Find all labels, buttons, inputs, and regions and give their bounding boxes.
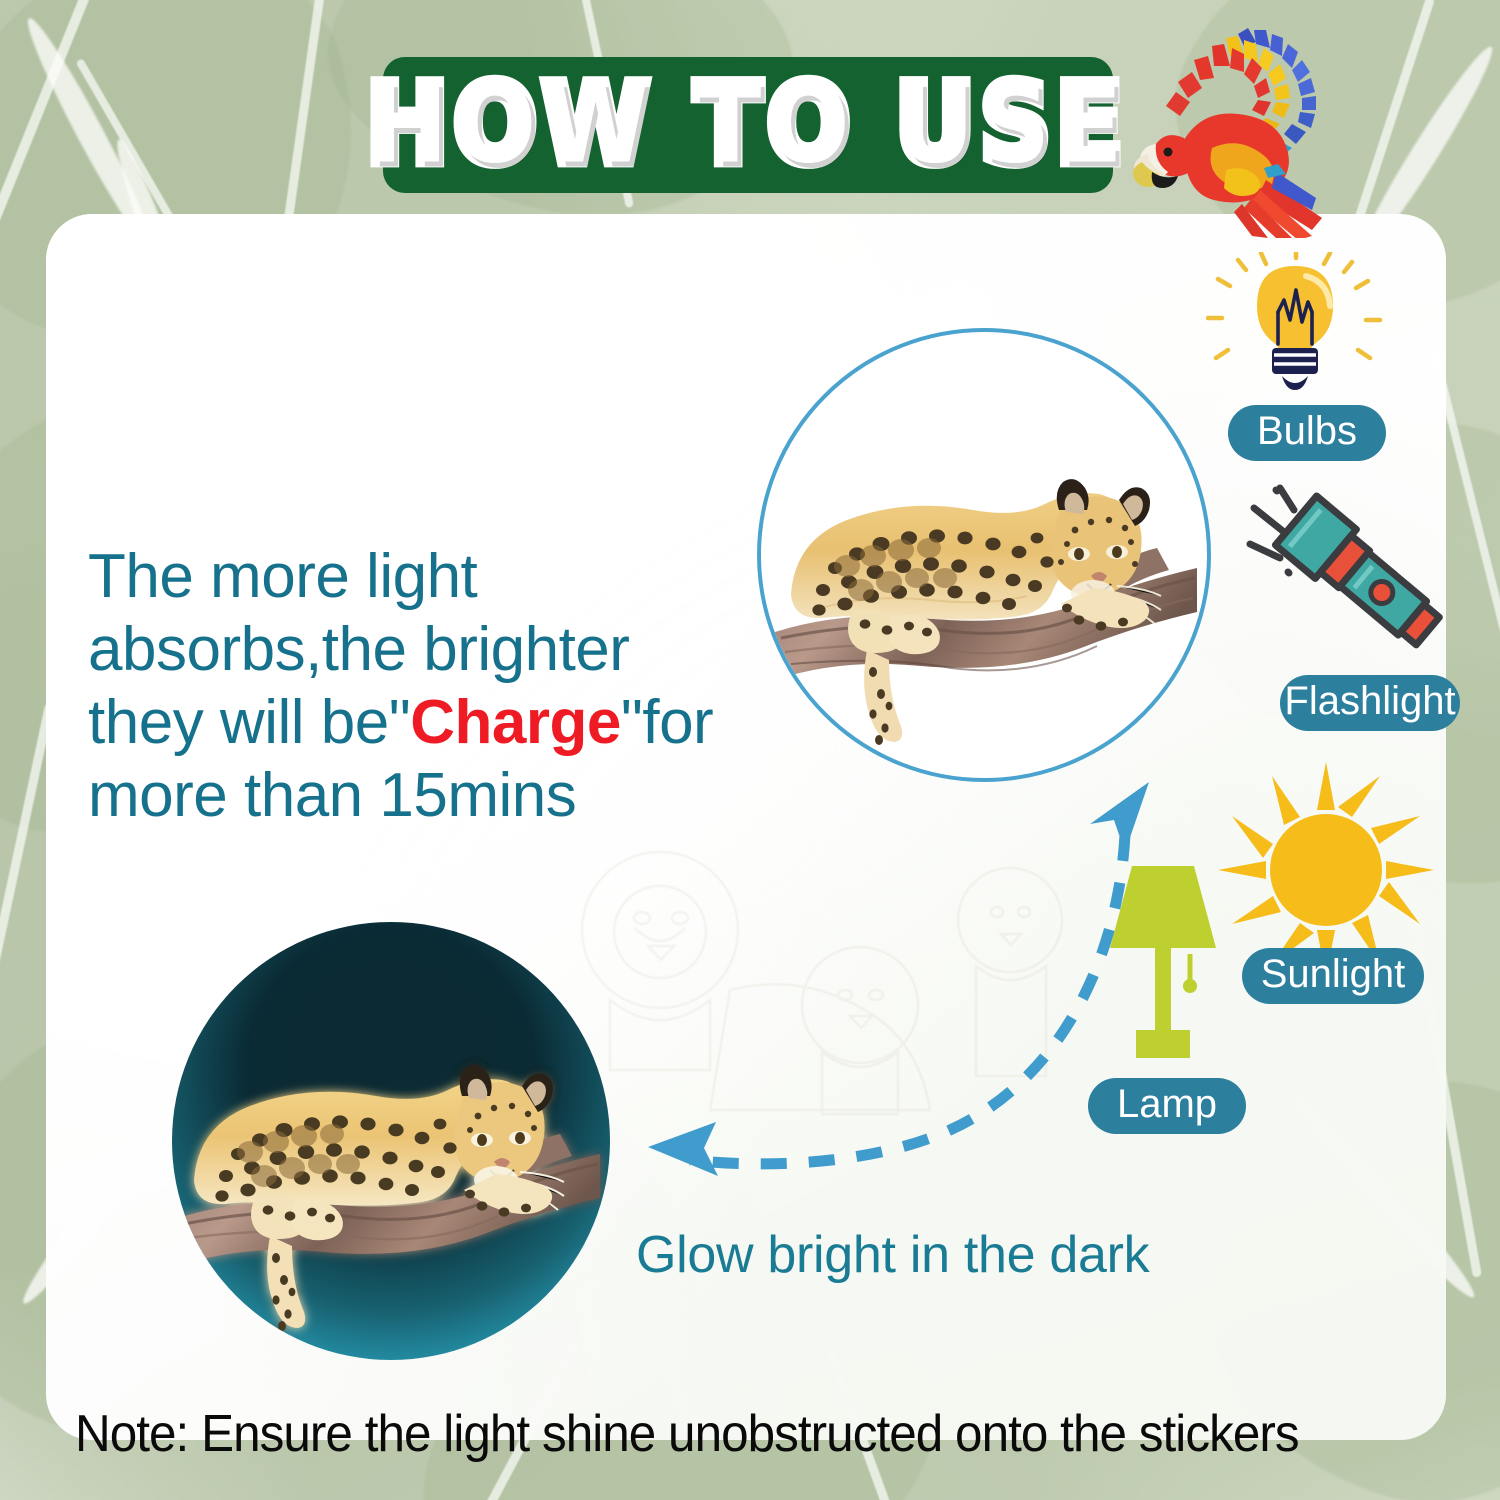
leopard-glow-illustration [172,922,610,1360]
pill-sunlight: Sunlight [1242,948,1424,1004]
paragraph-line-1: The more light [88,540,828,613]
line3-prefix: they will be" [88,688,410,757]
light-bulb-icon [1206,252,1384,402]
infographic-root: HOW TO USE [0,0,1500,1500]
pill-bulbs: Bulbs [1228,405,1386,461]
instruction-paragraph: The more light absorbs,the brighter they… [88,540,828,833]
pill-label-flashlight: Flashlight [1284,679,1455,724]
line3-suffix: "for [621,688,713,757]
pill-label-bulbs: Bulbs [1257,409,1357,454]
page-title: HOW TO USE [367,71,1129,180]
glow-caption: Glow bright in the dark [636,1225,1149,1285]
pill-label-lamp: Lamp [1117,1082,1217,1127]
pill-lamp: Lamp [1088,1078,1246,1134]
paragraph-line-3: they will be"Charge"for [88,686,828,759]
note-text: Note: Ensure the light shine unobstructe… [75,1404,1386,1464]
glow-sticker-circle [172,922,610,1360]
lion-family-watermark [540,820,1100,1120]
sun-icon [1218,762,1434,978]
title-banner: HOW TO USE [383,57,1113,193]
paragraph-line-2: absorbs,the brighter [88,613,828,686]
pill-flashlight: Flashlight [1280,675,1460,731]
flashlight-icon [1244,474,1466,650]
paragraph-line-4: more than 15mins [88,759,828,832]
charge-highlight: Charge [410,688,621,757]
macaw-parrot-icon [1126,22,1326,238]
pill-label-sunlight: Sunlight [1261,952,1406,997]
table-lamp-icon [1098,852,1228,1062]
